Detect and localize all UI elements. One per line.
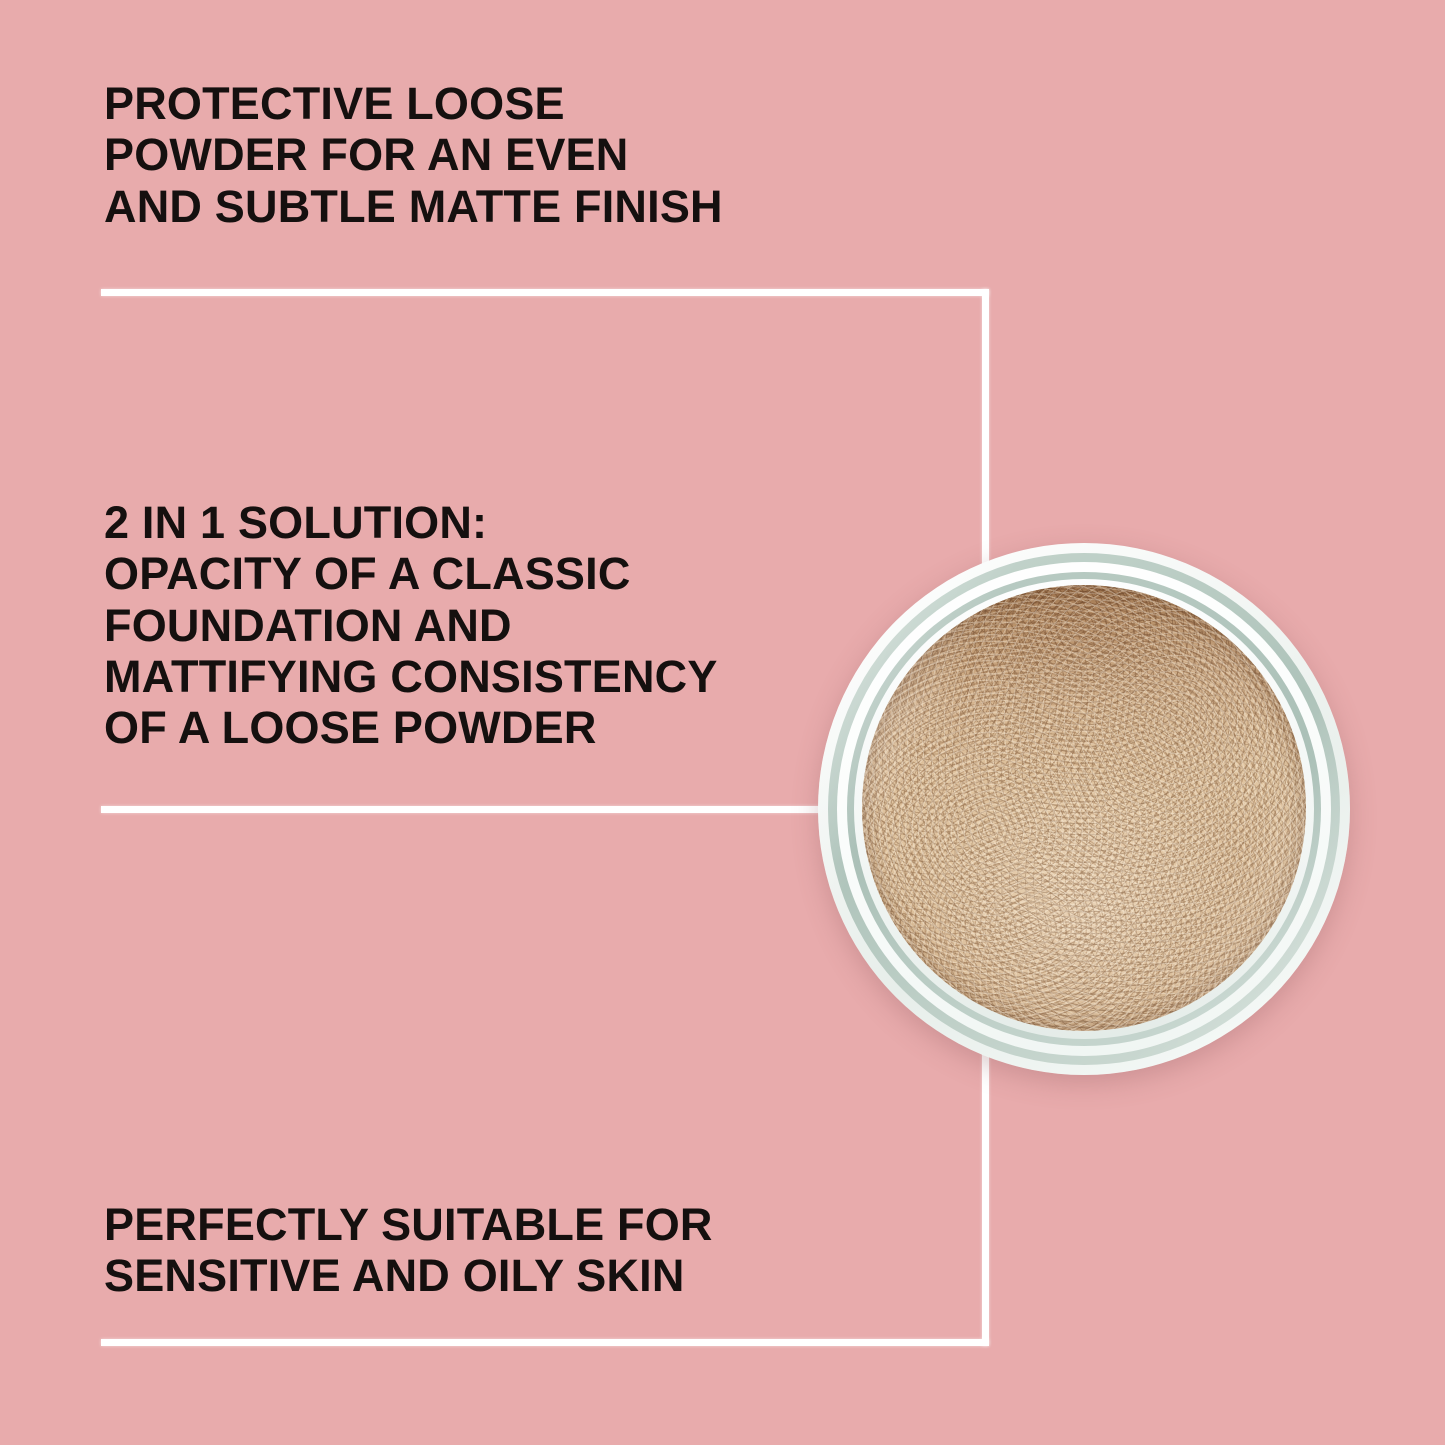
claim-text-sensitive-oily-skin: PERFECTLY SUITABLE FOR SENSITIVE AND OIL… <box>104 1199 864 1302</box>
divider-line-vertical-upper <box>982 289 989 564</box>
divider-line-bottom <box>101 1339 989 1346</box>
product-feature-banner: PROTECTIVE LOOSE POWDER FOR AN EVEN AND … <box>0 0 1445 1445</box>
product-image-loose-powder-jar <box>818 543 1350 1075</box>
divider-line-top <box>101 289 989 296</box>
divider-line-vertical-lower <box>982 1050 989 1346</box>
claim-text-two-in-one-solution: 2 IN 1 SOLUTION: OPACITY OF A CLASSIC FO… <box>104 497 864 753</box>
claim-text-protective-matte-finish: PROTECTIVE LOOSE POWDER FOR AN EVEN AND … <box>104 78 864 232</box>
divider-line-middle <box>101 806 831 813</box>
powder-grain-texture-light <box>862 585 1306 1031</box>
